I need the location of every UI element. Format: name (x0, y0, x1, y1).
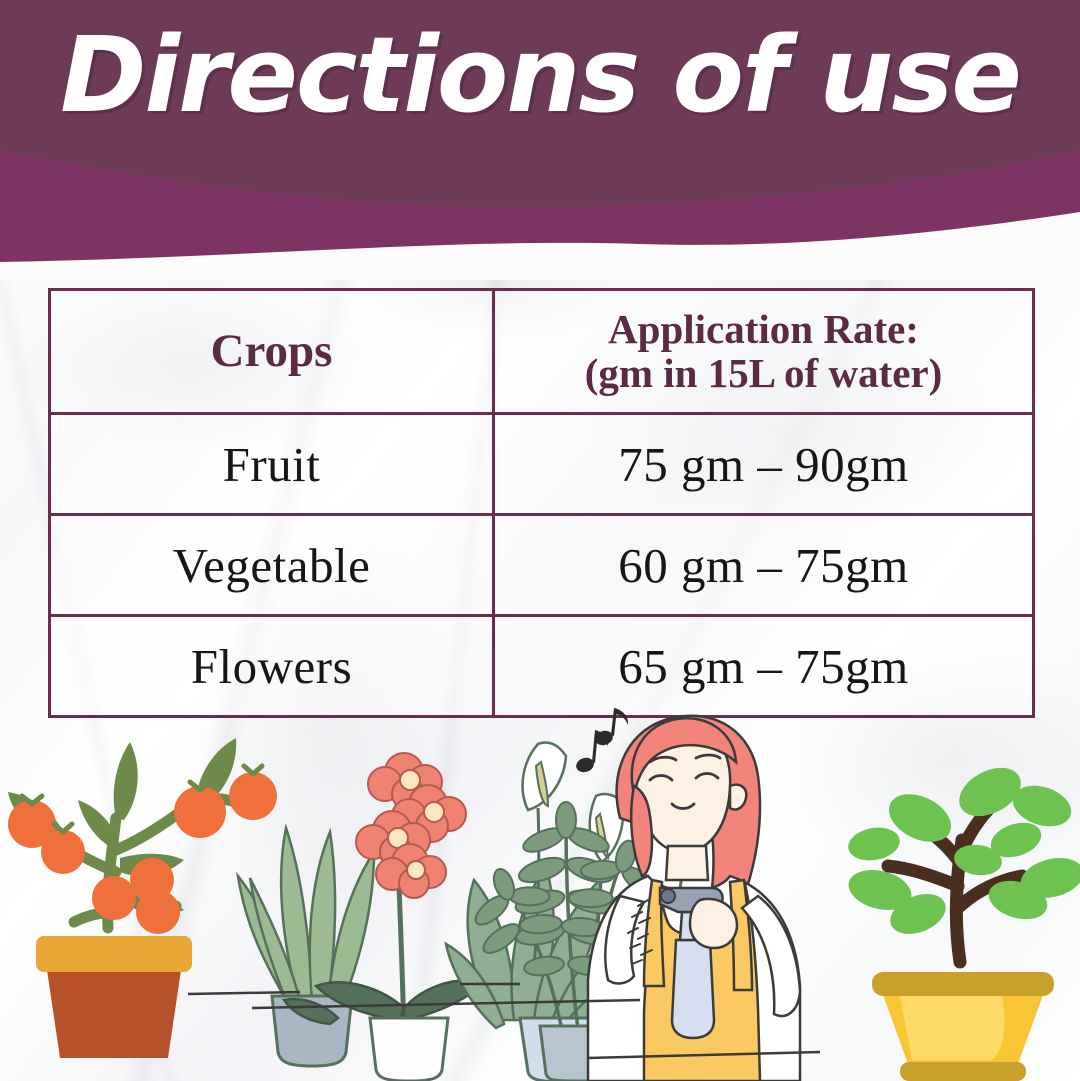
column-header-rate: Application Rate: (gm in 15L of water) (494, 290, 1034, 414)
cell-rate: 60 gm – 75gm (494, 515, 1034, 616)
table-header-row: Crops Application Rate: (gm in 15L of wa… (50, 290, 1034, 414)
woman-spraying-illustration (588, 716, 800, 1081)
sapling-pot-highlight (900, 996, 1004, 1060)
page-title: Directions of use (0, 14, 1080, 137)
spray-bottle-nozzle (661, 889, 675, 903)
column-header-crops: Crops (50, 290, 494, 414)
crop-name: Fruit (223, 437, 321, 492)
sapling-pot-base (900, 1062, 1026, 1081)
snake-plant-leaf (238, 828, 374, 1000)
cell-crop: Vegetable (50, 515, 494, 616)
tomato-fruit (8, 772, 277, 934)
cell-rate: 75 gm – 90gm (494, 414, 1034, 515)
snake-plant-illustration (238, 828, 374, 1066)
woman-neck (666, 846, 708, 880)
table-row: Fruit 75 gm – 90gm (50, 414, 1034, 515)
crop-name: Flowers (191, 639, 352, 694)
woman-ear (730, 785, 746, 810)
column-header-crops-label: Crops (211, 325, 333, 377)
orchid-pot (370, 1018, 448, 1081)
column-header-rate-label: Application Rate: (gm in 15L of water) (505, 308, 1022, 394)
woman-hand (690, 899, 737, 948)
column-header-rate-line1: Application Rate: (505, 308, 1022, 351)
rate-value: 75 gm – 90gm (618, 437, 908, 492)
table-row: Vegetable 60 gm – 75gm (50, 515, 1034, 616)
spray-bottle-body (672, 940, 714, 1038)
rate-value: 65 gm – 75gm (618, 639, 908, 694)
bottom-illustration (0, 700, 1080, 1081)
music-note-icon (593, 708, 628, 747)
cell-crop: Fruit (50, 414, 494, 515)
sapling-pot-rim (872, 972, 1054, 996)
tomato-pot-rim (36, 936, 192, 972)
column-header-rate-line2: (gm in 15L of water) (505, 352, 1022, 395)
poster-canvas: Directions of use Crops Application Rate… (0, 0, 1080, 1081)
header-banner: Directions of use (0, 0, 1080, 280)
crop-name: Vegetable (173, 538, 371, 593)
application-rate-table: Crops Application Rate: (gm in 15L of wa… (48, 288, 1035, 718)
rate-value: 60 gm – 75gm (618, 538, 908, 593)
illustration-artwork (0, 700, 1080, 1081)
tomato-plant-illustration (8, 738, 277, 1058)
sapling-plant-illustration (844, 758, 1080, 1081)
